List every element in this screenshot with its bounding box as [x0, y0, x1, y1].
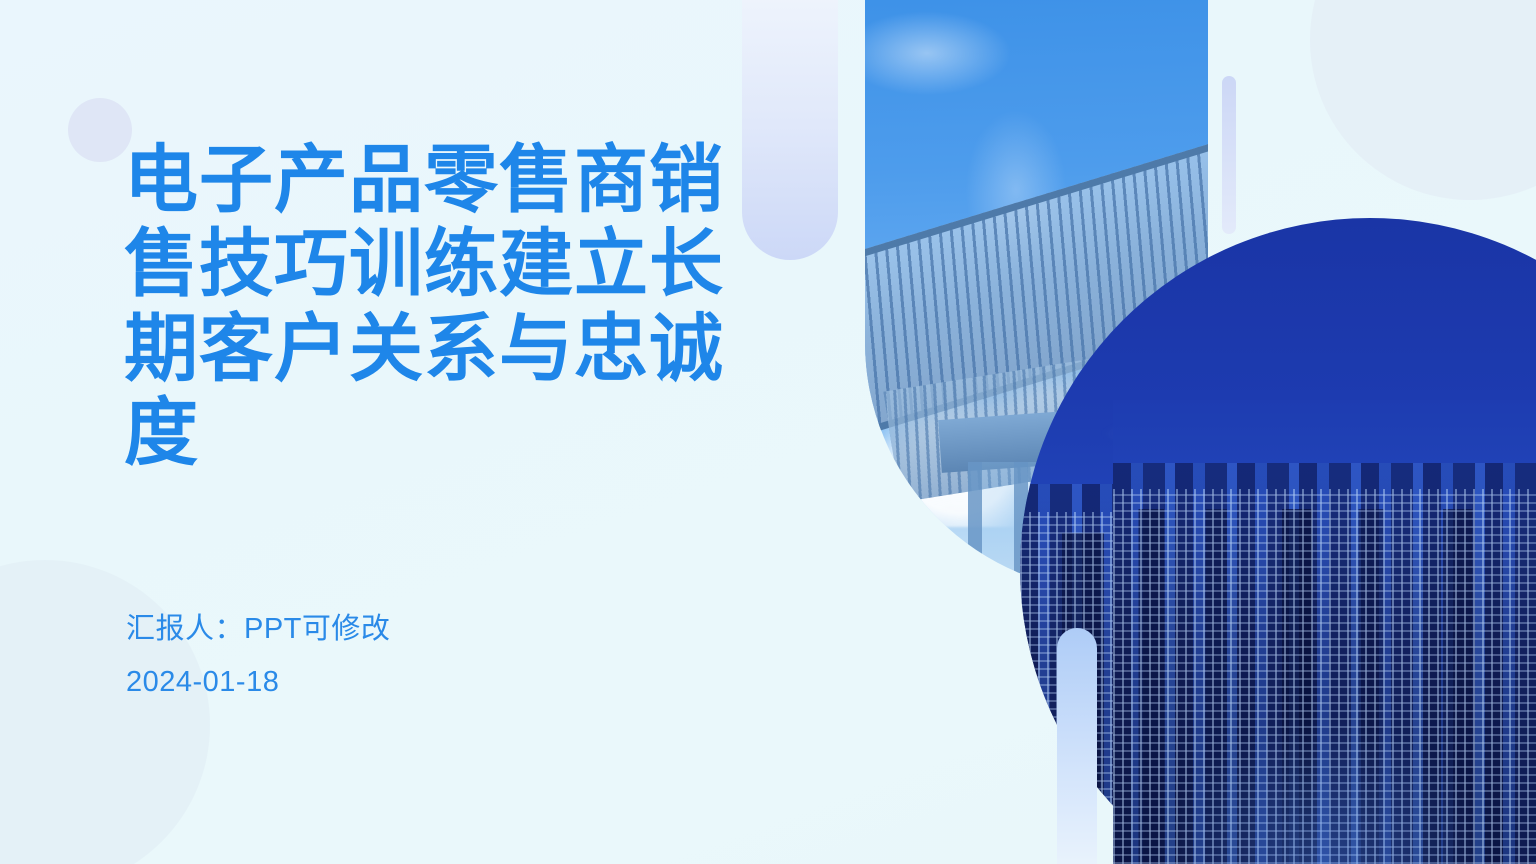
date-label: 2024-01-18 — [126, 666, 279, 699]
circle-decoration-icon — [68, 98, 132, 162]
presenter-label: 汇报人：PPT可修改 — [126, 605, 390, 647]
page-title: 电子产品零售商销售技巧训练建立长期客户关系与忠诚度 — [124, 138, 734, 475]
circle-decoration-icon — [1310, 0, 1536, 200]
pill-decoration-icon — [1222, 76, 1236, 234]
city-photo-rect — [1113, 400, 1536, 864]
city-glow-layer — [1113, 573, 1536, 864]
city-artwork — [1113, 400, 1536, 864]
title-slide: 电子产品零售商销售技巧训练建立长期客户关系与忠诚度 汇报人：PPT可修改 202… — [0, 0, 1536, 864]
pill-decoration-icon — [1057, 628, 1097, 864]
pill-decoration-icon — [742, 0, 838, 260]
